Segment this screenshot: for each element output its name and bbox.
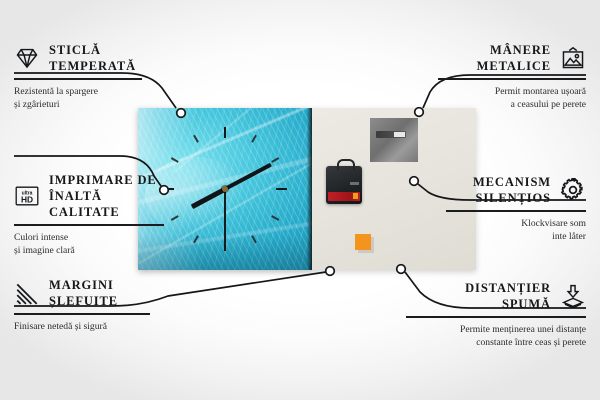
clock-tick: [163, 188, 225, 190]
callout-subtitle: Rezistentă la spargereși zgârieturi: [14, 85, 142, 111]
product-image: [138, 108, 476, 270]
gear-icon: [560, 177, 586, 203]
mechanism-label: [350, 182, 359, 185]
diagonal-stripes-icon: [14, 280, 40, 306]
callout-polished-edges: MARGINIȘLEFUITE Finisare netedă și sigur…: [14, 277, 150, 333]
callout-rule: [14, 313, 150, 315]
picture-hanger-icon: [560, 45, 586, 71]
diamond-icon: [14, 45, 40, 71]
clock-mechanism-part: [326, 166, 362, 204]
hanger-slot: [376, 131, 406, 138]
callout-rule: [14, 78, 142, 80]
callout-tempered-glass: STICLĂTEMPERATĂ Rezistentă la spargereși…: [14, 42, 142, 111]
callout-rule: [14, 224, 164, 226]
mechanism-loop: [337, 159, 355, 170]
callout-rule: [406, 316, 586, 318]
metal-hanger-part: [370, 118, 418, 162]
ultra-hd-icon: ultra HD: [14, 183, 40, 209]
clock-center-pin: [222, 186, 228, 192]
clock-face: [138, 108, 312, 270]
callout-subtitle: Permite menținerea unei distanțeconstant…: [406, 323, 586, 349]
callout-subtitle: Klockvisare sominte låter: [446, 217, 586, 243]
callout-title: STICLĂTEMPERATĂ: [49, 42, 136, 74]
battery-part: [328, 192, 360, 201]
callout-subtitle: Permit montarea ușoarăa ceasului pe pere…: [438, 85, 586, 111]
callout-title: IMPRIMARE DEÎNALTĂ CALITATE: [49, 172, 164, 220]
callout-rule: [438, 78, 586, 80]
callout-title: DISTANȚIERSPUMĂ: [465, 280, 551, 312]
callout-metal-handles: MÂNEREMETALICE Permit montarea ușoarăa c…: [438, 42, 586, 111]
clock-second-hand: [224, 189, 226, 245]
svg-text:HD: HD: [21, 194, 33, 204]
callout-subtitle: Culori intenseși imagine clară: [14, 231, 164, 257]
callout-foam-spacer: DISTANȚIERSPUMĂ Permite menținerea unei …: [406, 280, 586, 349]
callout-subtitle: Finisare netedă și sigură: [14, 320, 150, 333]
foam-spacer-part: [355, 234, 371, 250]
arrow-down-layers-icon: [560, 283, 586, 309]
callout-title: MÂNEREMETALICE: [477, 42, 551, 74]
callout-title: MARGINIȘLEFUITE: [49, 277, 118, 309]
callout-title: MECANISMSILENȚIOS: [473, 174, 551, 206]
callout-rule: [446, 210, 586, 212]
clock-tick: [225, 188, 287, 190]
infographic-canvas: STICLĂTEMPERATĂ Rezistentă la spargereși…: [0, 0, 600, 400]
clock-tick: [224, 127, 226, 189]
callout-high-quality-print: ultra HD IMPRIMARE DEÎNALTĂ CALITATE Cul…: [14, 172, 164, 257]
callout-silent-mechanism: MECANISMSILENȚIOS Klockvisare sominte lå…: [446, 174, 586, 243]
